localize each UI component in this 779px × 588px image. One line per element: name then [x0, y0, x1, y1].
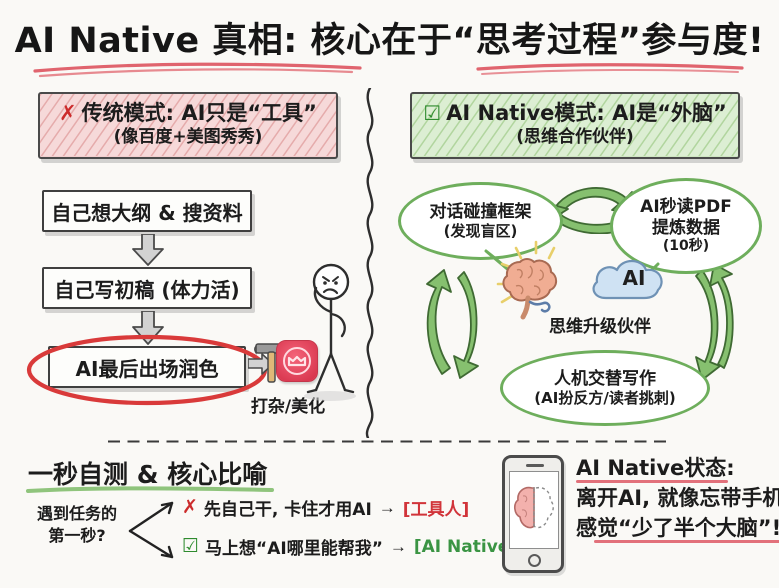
left-header-line1: ✗传统模式: AI只是“工具”	[50, 101, 326, 126]
flow-step-3: AI最后出场润色	[48, 346, 246, 388]
right-header-text: AI Native模式: AI是“外脑”	[446, 101, 727, 125]
bubble-pdf-line2: 提炼数据	[652, 218, 720, 238]
phone-screen	[509, 471, 559, 549]
question-line1: 遇到任务的	[37, 504, 117, 523]
option1-arrow: →	[379, 498, 396, 518]
left-header-line2: (像百度+美图秀秀)	[50, 127, 326, 148]
center-caption: 思维升级伙伴	[500, 312, 700, 337]
cross-icon: ✗	[59, 101, 77, 125]
left-header-text: 传统模式: AI只是“工具”	[82, 101, 317, 125]
note-line3-underline	[594, 540, 779, 543]
note-line1: AI Native状态:	[576, 457, 779, 479]
phone-speaker	[526, 464, 544, 467]
option2-arrow: →	[390, 537, 407, 557]
section-title-underline	[26, 486, 276, 494]
note-line2: 离开AI, 就像忘带手机,	[576, 487, 779, 509]
phone-home-button	[528, 554, 541, 567]
ai-cloud-label: AI	[604, 266, 664, 290]
cycle-arrow-left	[420, 262, 490, 382]
note-line1-underline	[576, 480, 728, 483]
bubble-pdf-line1: AI秒读PDF	[640, 197, 732, 217]
bubble-human-ai-writing: 人机交替写作 (AI扮反方/读者挑刺)	[500, 350, 710, 426]
bubble-writing-line2: (AI扮反方/读者挑刺)	[534, 389, 675, 407]
checkbox-checked-icon: ☑	[423, 101, 441, 125]
bubble-dialog-line2: (发现盲区)	[444, 222, 518, 240]
down-arrow-1	[129, 234, 167, 266]
page-title-block: AI Native 真相: 核心在于“思考过程”参与度!	[0, 12, 779, 63]
branch-arrows	[126, 495, 184, 567]
brain-icon	[492, 240, 582, 320]
horizontal-dashed-divider	[14, 440, 766, 443]
infographic-canvas: AI Native 真相: 核心在于“思考过程”参与度! ✗传统模式: AI只是…	[0, 0, 779, 588]
checkbox-checked-icon-option2: ☑	[182, 535, 199, 558]
cross-icon-option1: ✗	[182, 496, 198, 519]
option1-tag: [工具人]	[403, 495, 470, 520]
flow-step-3-label: AI最后出场润色	[76, 353, 219, 382]
flow-step-2-label: 自己写初稿 (体力活)	[54, 274, 239, 303]
note-line3-text: 感觉“少了半个大脑”!	[576, 516, 779, 540]
phone-with-half-brain-icon	[502, 455, 564, 573]
page-title: AI Native 真相: 核心在于“思考过程”参与度!	[0, 12, 779, 63]
bubble-dialog-line1: 对话碰撞框架	[430, 202, 532, 222]
note-line1-text: AI Native状态:	[576, 456, 735, 480]
left-panel-header: ✗传统模式: AI只是“工具” (像百度+美图秀秀)	[38, 92, 338, 159]
option1-text: 先自己干, 卡住才用AI	[204, 495, 372, 520]
bubble-writing-line1: 人机交替写作	[554, 369, 656, 389]
worried-stick-figure	[300, 262, 358, 410]
question-prompt: 遇到任务的第一秒?	[22, 503, 132, 546]
right-header-line1: ☑AI Native模式: AI是“外脑”	[422, 101, 728, 126]
right-panel-header: ☑AI Native模式: AI是“外脑” (思维合作伙伴)	[410, 92, 740, 159]
ai-native-state-note: AI Native状态: 离开AI, 就像忘带手机, 感觉“少了半个大脑”!	[576, 457, 779, 547]
option2-text: 马上想“AI哪里能帮我”	[205, 534, 383, 559]
flow-step-1: 自己想大纲 & 搜资料	[42, 190, 252, 232]
down-arrow-2	[129, 311, 167, 345]
self-test-option-2: ☑ 马上想“AI哪里能帮我” → [AI Native]	[182, 534, 517, 559]
right-header-line2: (思维合作伙伴)	[422, 127, 728, 148]
half-brain-glyph	[510, 472, 558, 548]
question-line2: 第一秒?	[48, 526, 105, 545]
flow-step-1-label: 自己想大纲 & 搜资料	[51, 197, 242, 226]
vertical-wavy-divider	[358, 88, 382, 438]
self-test-option-1: ✗ 先自己干, 卡住才用AI → [工具人]	[182, 495, 469, 520]
note-line3: 感觉“少了半个大脑”!	[576, 517, 779, 539]
flow-step-2: 自己写初稿 (体力活)	[42, 267, 252, 309]
